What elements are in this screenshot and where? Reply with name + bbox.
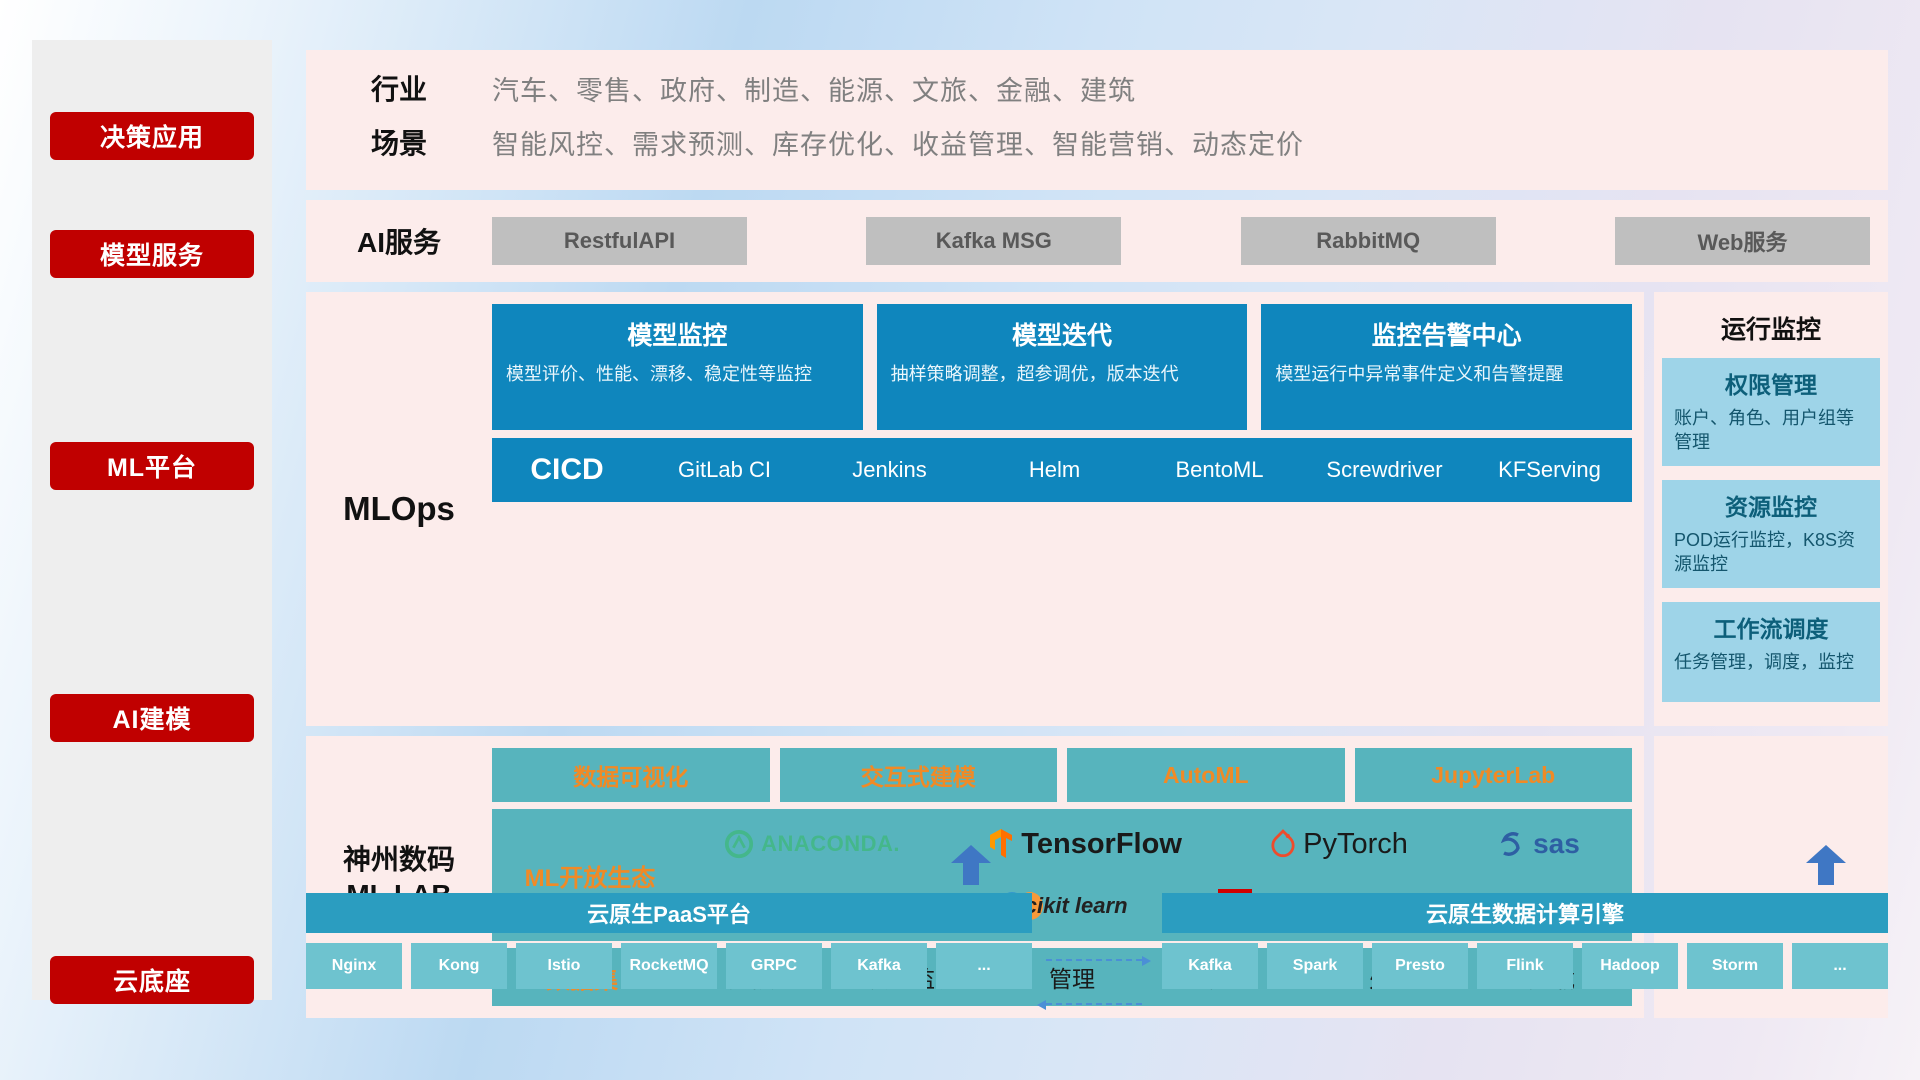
chip-label: RocketMQ: [629, 958, 708, 975]
cloud-chip-storm[interactable]: Storm: [1687, 943, 1783, 989]
service-label: Kafka MSG: [936, 228, 1052, 254]
chip-label: Kong: [439, 958, 480, 975]
cicd-item-jenkins[interactable]: Jenkins: [807, 457, 972, 482]
service-box-rabbitmq[interactable]: RabbitMQ: [1241, 217, 1496, 265]
cloud-chip-flink[interactable]: Flink: [1477, 943, 1573, 989]
service-box-web[interactable]: Web服务: [1615, 217, 1870, 265]
logo-pytorch: PyTorch: [1270, 828, 1408, 861]
cloud-chip-kong[interactable]: Kong: [411, 943, 507, 989]
logo-anaconda: ANACONDA.: [724, 829, 900, 859]
chip-label: Flink: [1506, 958, 1543, 975]
cicd-title: CICD: [492, 453, 642, 487]
chip-label: Spark: [1293, 958, 1337, 975]
scenario-list: 智能风控、需求预测、库存优化、收益管理、智能营销、动态定价: [492, 123, 1304, 162]
logo-text: PyTorch: [1303, 828, 1408, 861]
cloud-chip-spark[interactable]: Spark: [1267, 943, 1363, 989]
chip-label: Kafka: [857, 958, 901, 975]
tensorflow-icon: [988, 828, 1014, 860]
sas-icon: [1496, 830, 1526, 858]
ml-lab-label-line1: 神州数码: [343, 842, 455, 877]
chip-label: Storm: [1712, 958, 1758, 975]
rail-item-model-service[interactable]: 模型服务: [50, 230, 254, 278]
rail-item-decision-apps[interactable]: 决策应用: [50, 112, 254, 160]
service-label: RestfulAPI: [564, 228, 675, 254]
cloud-layer: 云原生PaaS平台 云原生数据计算引擎 Nginx Kong Istio Roc…: [306, 893, 1888, 1033]
card-title: 模型监控: [506, 316, 849, 352]
mlops-label: MLOps: [306, 304, 492, 714]
rail-label: 决策应用: [100, 118, 204, 154]
chip-label: ...: [977, 958, 990, 975]
cloud-chip-nginx[interactable]: Nginx: [306, 943, 402, 989]
ecosystem-label: ML开放生态: [500, 858, 680, 893]
card-title: 监控告警中心: [1275, 316, 1618, 352]
cloud-chip-hadoop[interactable]: Hadoop: [1582, 943, 1678, 989]
pytorch-icon: [1270, 829, 1296, 859]
scenario-row: 场景 智能风控、需求预测、库存优化、收益管理、智能营销、动态定价: [306, 122, 1888, 162]
cicd-item-bentoml[interactable]: BentoML: [1137, 457, 1302, 482]
rail-label: ML平台: [107, 448, 197, 484]
service-label: Web服务: [1697, 225, 1787, 257]
card-desc: 抽样策略调整，超参调优，版本迭代: [891, 362, 1234, 387]
arrow-up-paas: [951, 845, 991, 885]
lab-tool-jupyterlab[interactable]: JupyterLab: [1355, 748, 1633, 802]
mlops-card-model-monitoring[interactable]: 模型监控 模型评价、性能、漂移、稳定性等监控: [492, 304, 863, 430]
chip-label: Hadoop: [1600, 958, 1660, 975]
card-desc: 账户、角色、用户组等管理: [1674, 406, 1868, 454]
dash-arrow-right: [1046, 959, 1142, 961]
main-stack: 行业 汽车、零售、政府、制造、能源、文旅、金融、建筑 场景 智能风控、需求预测、…: [306, 50, 1888, 1018]
cloud-paas-title: 云原生PaaS平台: [587, 897, 751, 929]
card-desc: 模型运行中异常事件定义和告警提醒: [1275, 362, 1618, 387]
card-title: 资源监控: [1674, 488, 1868, 522]
applications-band: 行业 汽车、零售、政府、制造、能源、文旅、金融、建筑 场景 智能风控、需求预测、…: [306, 50, 1888, 190]
ai-services-band: AI服务 RestfulAPI Kafka MSG RabbitMQ Web服务: [306, 200, 1888, 282]
logo-text: sas: [1533, 828, 1580, 860]
industry-row: 行业 汽车、零售、政府、制造、能源、文旅、金融、建筑: [306, 68, 1888, 108]
cloud-engine-header[interactable]: 云原生数据计算引擎: [1162, 893, 1888, 933]
rail-item-ai-modeling[interactable]: AI建模: [50, 694, 254, 742]
chip-label: Istio: [548, 958, 581, 975]
chip-label: ...: [1833, 958, 1846, 975]
cloud-chip-more-right[interactable]: ...: [1792, 943, 1888, 989]
rail-label: AI建模: [112, 700, 191, 736]
service-box-kafka[interactable]: Kafka MSG: [866, 217, 1121, 265]
rail-label: 云底座: [113, 962, 191, 998]
card-title: 权限管理: [1674, 366, 1868, 400]
arrow-up-engine: [1806, 845, 1846, 885]
tool-label: AutoML: [1163, 762, 1249, 789]
chip-label: GRPC: [751, 958, 797, 975]
rail-item-cloud-base[interactable]: 云底座: [50, 956, 254, 1004]
mlops-row: MLOps 模型监控 模型评价、性能、漂移、稳定性等监控 模型迭代 抽样策略调整…: [306, 292, 1888, 726]
logo-tensorflow: TensorFlow: [988, 828, 1182, 861]
ai-services-label: AI服务: [306, 221, 492, 261]
tool-label: 交互式建模: [861, 758, 976, 792]
monitor-card-resource[interactable]: 资源监控 POD运行监控，K8S资源监控: [1662, 480, 1880, 588]
cloud-chip-kafka[interactable]: Kafka: [831, 943, 927, 989]
industry-list: 汽车、零售、政府、制造、能源、文旅、金融、建筑: [492, 69, 1136, 108]
cicd-item-kfserving[interactable]: KFServing: [1467, 457, 1632, 482]
tool-label: JupyterLab: [1431, 762, 1555, 789]
card-desc: POD运行监控，K8S资源监控: [1674, 528, 1868, 576]
monitoring-title: 运行监控: [1662, 302, 1880, 358]
anaconda-icon: [724, 829, 754, 859]
card-desc: 任务管理，调度，监控: [1674, 650, 1868, 674]
cloud-chip-rocketmq[interactable]: RocketMQ: [621, 943, 717, 989]
card-title: 工作流调度: [1674, 610, 1868, 644]
left-rail: 决策应用 模型服务 ML平台 AI建模 云底座: [32, 40, 272, 1000]
lab-tool-interactive-modeling[interactable]: 交互式建模: [780, 748, 1058, 802]
dash-arrow-left: [1046, 1003, 1142, 1005]
mlops-band: MLOps 模型监控 模型评价、性能、漂移、稳定性等监控 模型迭代 抽样策略调整…: [306, 292, 1644, 726]
cicd-item-gitlab[interactable]: GitLab CI: [642, 457, 807, 482]
monitor-card-permission[interactable]: 权限管理 账户、角色、用户组等管理: [1662, 358, 1880, 466]
monitor-card-workflow[interactable]: 工作流调度 任务管理，调度，监控: [1662, 602, 1880, 702]
chip-label: Kafka: [1188, 958, 1232, 975]
cicd-item-screwdriver[interactable]: Screwdriver: [1302, 457, 1467, 482]
card-desc: 模型评价、性能、漂移、稳定性等监控: [506, 362, 849, 387]
rail-item-ml-platform[interactable]: ML平台: [50, 442, 254, 490]
cloud-chip-more-left[interactable]: ...: [936, 943, 1032, 989]
cloud-paas-header[interactable]: 云原生PaaS平台: [306, 893, 1032, 933]
card-title: 模型迭代: [891, 316, 1234, 352]
cloud-chip-presto[interactable]: Presto: [1372, 943, 1468, 989]
architecture-diagram: 决策应用 模型服务 ML平台 AI建模 云底座 行业 汽车、零售、政府、制造、能…: [0, 0, 1920, 1080]
industry-label: 行业: [306, 68, 492, 108]
logo-sas: sas: [1496, 828, 1580, 860]
scenario-label: 场景: [306, 122, 492, 162]
cloud-chip-grpc[interactable]: GRPC: [726, 943, 822, 989]
cloud-engine-title: 云原生数据计算引擎: [1426, 897, 1624, 929]
tool-label: 数据可视化: [573, 758, 688, 792]
mlops-card-model-iteration[interactable]: 模型迭代 抽样策略调整，超参调优，版本迭代: [877, 304, 1248, 430]
mlops-card-alert-center[interactable]: 监控告警中心 模型运行中异常事件定义和告警提醒: [1261, 304, 1632, 430]
rail-label: 模型服务: [100, 236, 204, 272]
lab-tool-automl[interactable]: AutoML: [1067, 748, 1345, 802]
cicd-item-helm[interactable]: Helm: [972, 457, 1137, 482]
chip-label: Nginx: [332, 958, 376, 975]
cloud-chip-kafka-engine[interactable]: Kafka: [1162, 943, 1258, 989]
logo-text: ANACONDA.: [761, 831, 900, 857]
service-box-restful[interactable]: RestfulAPI: [492, 217, 747, 265]
monitoring-column: 运行监控 权限管理 账户、角色、用户组等管理 资源监控 POD运行监控，K8S资…: [1654, 292, 1888, 726]
chip-label: Presto: [1395, 958, 1445, 975]
service-label: RabbitMQ: [1316, 228, 1420, 254]
cicd-bar: CICD GitLab CI Jenkins Helm BentoML Scre…: [492, 438, 1632, 502]
logo-text: TensorFlow: [1021, 828, 1182, 861]
lab-tool-data-viz[interactable]: 数据可视化: [492, 748, 770, 802]
cloud-chip-istio[interactable]: Istio: [516, 943, 612, 989]
